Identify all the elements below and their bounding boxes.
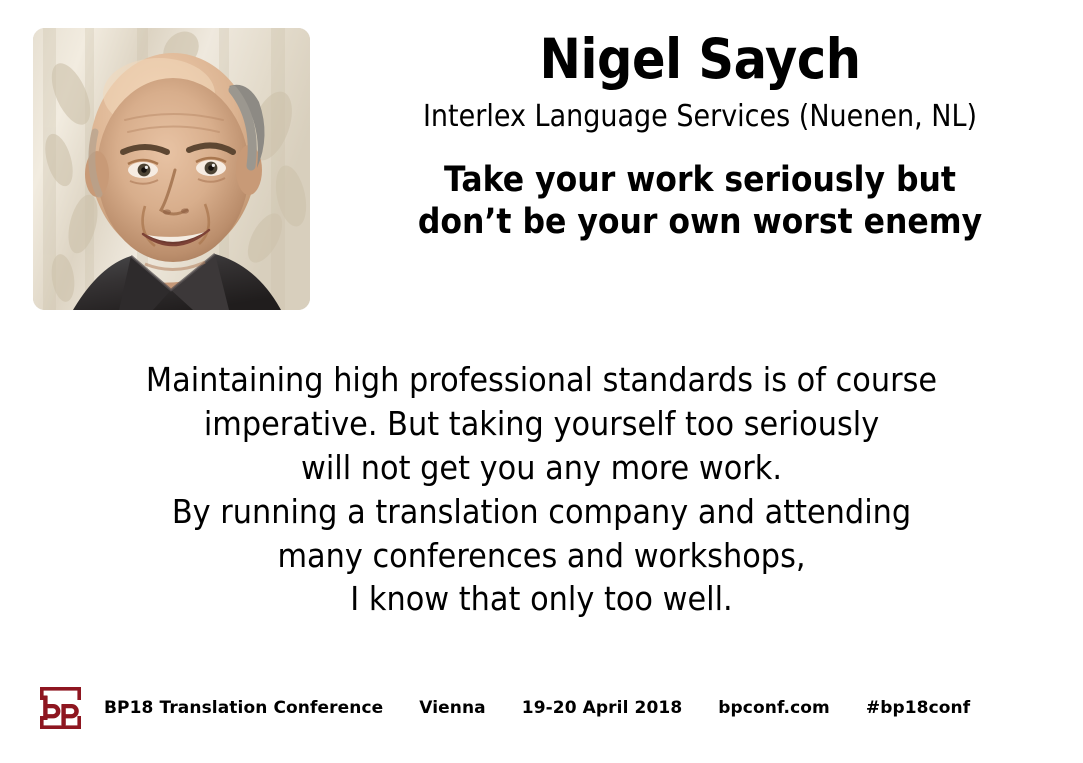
abstract-line: By running a translation company and att… xyxy=(80,490,1003,534)
abstract-line: I know that only too well. xyxy=(80,577,1003,621)
footer-city: Vienna xyxy=(419,698,486,718)
abstract-line: will not get you any more work. xyxy=(80,446,1003,490)
bp-logo-icon xyxy=(40,687,81,729)
footer-dates: 19-20 April 2018 xyxy=(522,698,683,718)
footer-conference-name: BP18 Translation Conference xyxy=(104,698,383,718)
abstract-line: Maintaining high professional standards … xyxy=(80,358,1003,402)
talk-title: Take your work seriously but don’t be yo… xyxy=(367,133,1033,244)
speaker-header: Nigel Saych Interlex Language Services (… xyxy=(330,30,1070,244)
speaker-slide: { "speaker": { "name": "Nigel Saych", "a… xyxy=(0,0,1083,763)
speaker-name: Nigel Saych xyxy=(367,30,1033,87)
talk-title-line: Take your work seriously but xyxy=(367,159,1033,202)
speaker-photo xyxy=(33,28,310,310)
footer-items: BP18 Translation Conference Vienna 19-20… xyxy=(104,698,970,718)
speaker-affiliation: Interlex Language Services (Nuenen, NL) xyxy=(367,87,1033,133)
abstract-line: imperative. But taking yourself too seri… xyxy=(80,402,1003,446)
footer-hashtag[interactable]: #bp18conf xyxy=(866,698,970,718)
abstract-line: many conferences and workshops, xyxy=(80,534,1003,578)
conference-footer: BP18 Translation Conference Vienna 19-20… xyxy=(40,686,1050,730)
talk-abstract: Maintaining high professional standards … xyxy=(80,358,1003,621)
talk-title-line: don’t be your own worst enemy xyxy=(367,201,1033,244)
footer-website[interactable]: bpconf.com xyxy=(718,698,830,718)
